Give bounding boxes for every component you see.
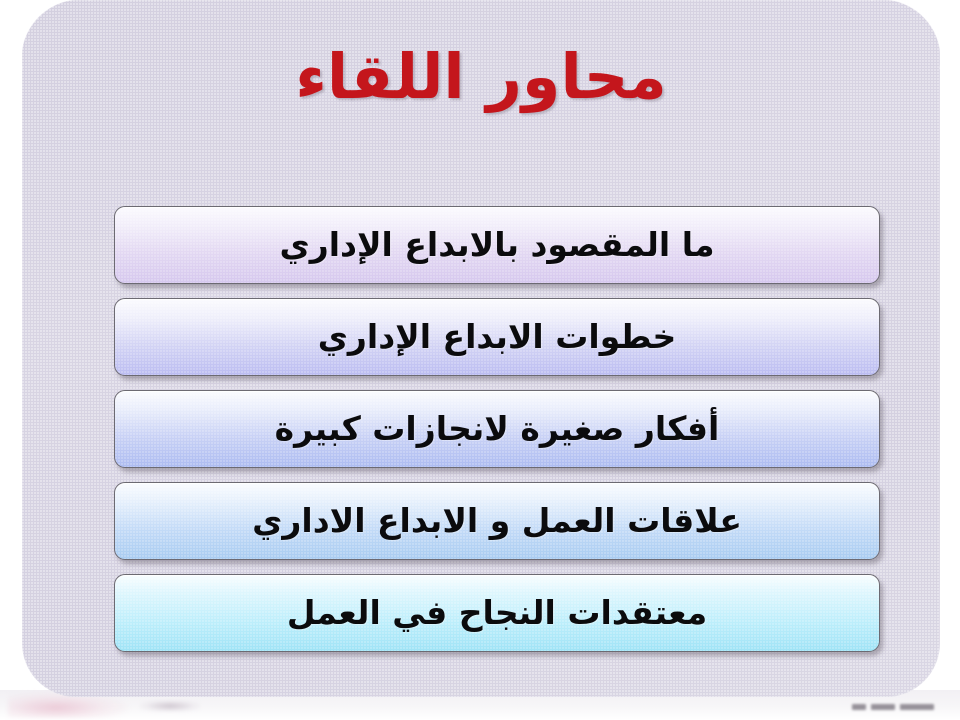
topic-item-2-label: خطوات الابداع الإداري bbox=[318, 320, 677, 355]
topic-item-3[interactable]: أفكار صغيرة لانجازات كبيرة bbox=[114, 390, 880, 468]
blurred-watermark-text bbox=[852, 700, 948, 714]
topic-item-5-label: معتقدات النجاح في العمل bbox=[287, 596, 707, 631]
presentation-slide: محاور اللقاء ما المقصود بالابداع الإداري… bbox=[22, 0, 940, 697]
topics-list: ما المقصود بالابداع الإداري خطوات الابدا… bbox=[114, 206, 880, 666]
topic-item-4[interactable]: علاقات العمل و الابداع الاداري bbox=[114, 482, 880, 560]
topic-item-2[interactable]: خطوات الابداع الإداري bbox=[114, 298, 880, 376]
topic-item-5[interactable]: معتقدات النجاح في العمل bbox=[114, 574, 880, 652]
underlying-slide-gray-smudge bbox=[140, 700, 200, 712]
slide-canvas: محاور اللقاء ما المقصود بالابداع الإداري… bbox=[0, 0, 960, 720]
topic-item-1-label: ما المقصود بالابداع الإداري bbox=[279, 228, 714, 263]
page-title: محاور اللقاء bbox=[22, 44, 940, 109]
topic-item-3-label: أفكار صغيرة لانجازات كبيرة bbox=[275, 412, 720, 447]
topic-item-1[interactable]: ما المقصود بالابداع الإداري bbox=[114, 206, 880, 284]
topic-item-4-label: علاقات العمل و الابداع الاداري bbox=[252, 504, 742, 539]
